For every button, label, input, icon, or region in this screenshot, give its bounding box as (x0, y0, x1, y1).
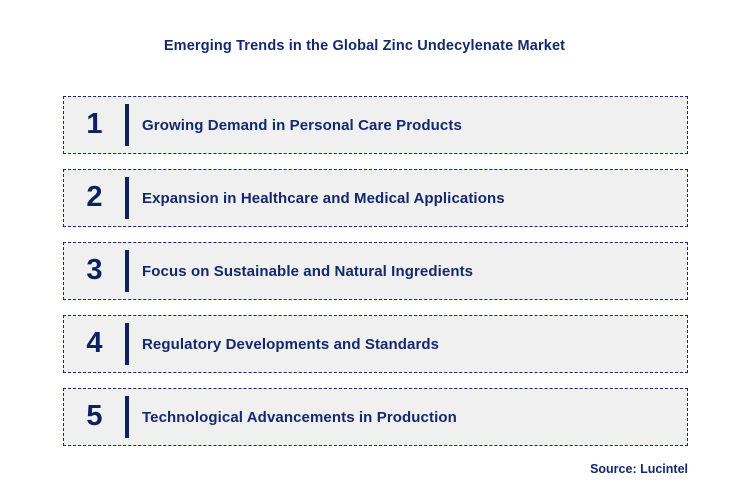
list-item: 4 Regulatory Developments and Standards (63, 315, 688, 373)
list-item: 5 Technological Advancements in Producti… (63, 388, 688, 446)
page-title: Emerging Trends in the Global Zinc Undec… (0, 38, 729, 54)
trend-label: Expansion in Healthcare and Medical Appl… (129, 190, 505, 207)
trend-label: Growing Demand in Personal Care Products (129, 117, 462, 134)
trends-infographic: Emerging Trends in the Global Zinc Undec… (0, 0, 729, 492)
trend-number: 5 (64, 402, 125, 433)
trend-number: 3 (64, 256, 125, 287)
list-item: 2 Expansion in Healthcare and Medical Ap… (63, 169, 688, 227)
list-item: 3 Focus on Sustainable and Natural Ingre… (63, 242, 688, 300)
trend-label: Technological Advancements in Production (129, 409, 457, 426)
trend-list: 1 Growing Demand in Personal Care Produc… (63, 96, 688, 446)
trend-label: Focus on Sustainable and Natural Ingredi… (129, 263, 473, 280)
trend-number: 1 (64, 110, 125, 141)
list-item: 1 Growing Demand in Personal Care Produc… (63, 96, 688, 154)
source-attribution: Source: Lucintel (0, 462, 688, 476)
trend-number: 4 (64, 329, 125, 360)
trend-number: 2 (64, 183, 125, 214)
trend-label: Regulatory Developments and Standards (129, 336, 439, 353)
